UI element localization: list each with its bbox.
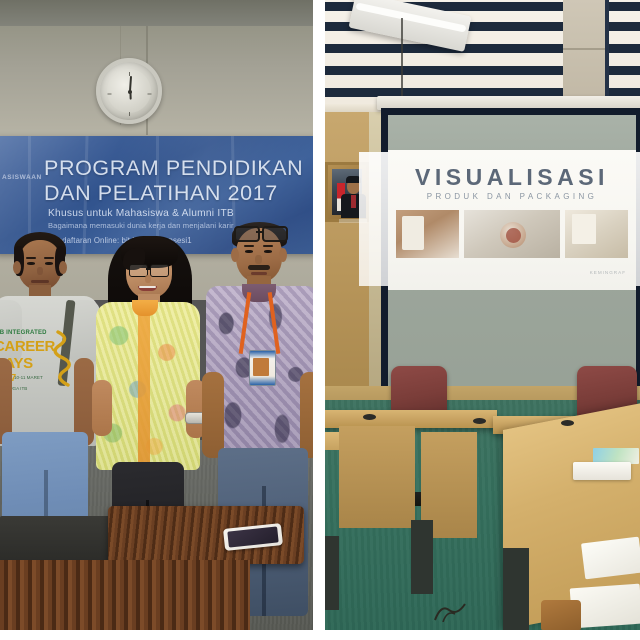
- tshirt-print-line-5: 10-11 MARET: [14, 375, 43, 380]
- clock-minute-hand: [129, 76, 132, 91]
- eye-right: [45, 262, 53, 265]
- arm-left: [202, 372, 224, 458]
- eyeglass-bridge: [256, 231, 262, 233]
- mouth: [31, 280, 49, 283]
- chair-backrest-dark: [325, 536, 339, 610]
- tunic-collar: [132, 300, 158, 316]
- eye-left: [245, 250, 253, 253]
- panel-divider-bottom: [0, 630, 640, 640]
- eyeglass-lens-left: [234, 226, 260, 242]
- clock-center-dot: [128, 90, 132, 94]
- ear-left: [231, 248, 239, 262]
- chair-backrest-dark: [503, 548, 529, 630]
- slide-title: VISUALISASI: [388, 164, 636, 191]
- portrait-image: [332, 169, 362, 215]
- eye-left: [27, 262, 35, 265]
- mouth: [251, 272, 267, 275]
- slide-credit: KEMINGRAF: [388, 270, 626, 275]
- nose: [145, 275, 151, 283]
- tunic-placket: [138, 304, 150, 468]
- tshirt-print-line-2: CAREER: [0, 339, 55, 354]
- ear-right: [279, 248, 287, 262]
- photo-collage: ASISWAAN PROGRAM PENDIDIKAN DAN PELATIHA…: [0, 0, 640, 640]
- table-modesty-panel: [339, 426, 415, 528]
- eyeglass-bridge: [146, 268, 151, 270]
- slide-subtitle: PRODUK DAN PACKAGING: [388, 192, 636, 201]
- wooden-lectern-front: [0, 560, 250, 630]
- clock-tick: [148, 94, 152, 95]
- nose: [255, 255, 262, 264]
- thumbnail-product-3: [572, 214, 596, 244]
- arm-left: [92, 380, 112, 436]
- arm-right: [300, 372, 313, 458]
- clock-face: [107, 69, 151, 113]
- mustache: [248, 265, 270, 270]
- panel-divider-vertical: [313, 0, 325, 640]
- eyeglasses-on-head: [234, 226, 286, 239]
- floor-cable: [433, 592, 467, 622]
- left-photo-panel: ASISWAAN PROGRAM PENDIDIKAN DAN PELATIHA…: [0, 0, 313, 630]
- clock-tick: [108, 94, 112, 95]
- thumbnail-product-1: [402, 216, 424, 250]
- ceiling: [0, 0, 313, 26]
- smartphone-screen: [227, 526, 278, 547]
- eyeglass-lens-right: [262, 226, 288, 242]
- ear-right: [59, 261, 67, 274]
- document-on-table: [581, 537, 640, 580]
- cable-grommet: [561, 420, 574, 426]
- clock-tick: [129, 112, 130, 116]
- chair-backrest-dark: [411, 520, 433, 594]
- right-photo-panel: VISUALISASI PRODUK DAN PACKAGING KEMINGR…: [325, 0, 640, 630]
- eye-right: [264, 250, 272, 253]
- tshirt-print-line-1: ITB INTEGRATED: [0, 330, 47, 336]
- ear-left: [13, 261, 21, 274]
- cable-grommet: [363, 414, 376, 420]
- id-badge-photo: [253, 358, 269, 376]
- water-bottle: [541, 600, 581, 630]
- wall-clock: [96, 58, 162, 124]
- presentation-slide: VISUALISASI PRODUK DAN PACKAGING KEMINGR…: [388, 150, 636, 290]
- thumbnail-product-2-label: [506, 228, 521, 243]
- portrait-tie: [351, 195, 356, 208]
- pillar-seam: [563, 48, 605, 50]
- banner-title: PROGRAM PENDIDIKAN DAN PELATIHAN 2017: [44, 156, 308, 205]
- cable-grommet: [473, 418, 486, 424]
- nose: [37, 267, 43, 275]
- eyeglass-lens-right: [150, 264, 169, 277]
- banner-side-text: ASISWAAN: [2, 174, 42, 181]
- banner-subtitle-1: Khusus untuk Mahasiswa & Alumni ITB: [48, 208, 298, 219]
- paper-stack-on-table: [573, 462, 631, 480]
